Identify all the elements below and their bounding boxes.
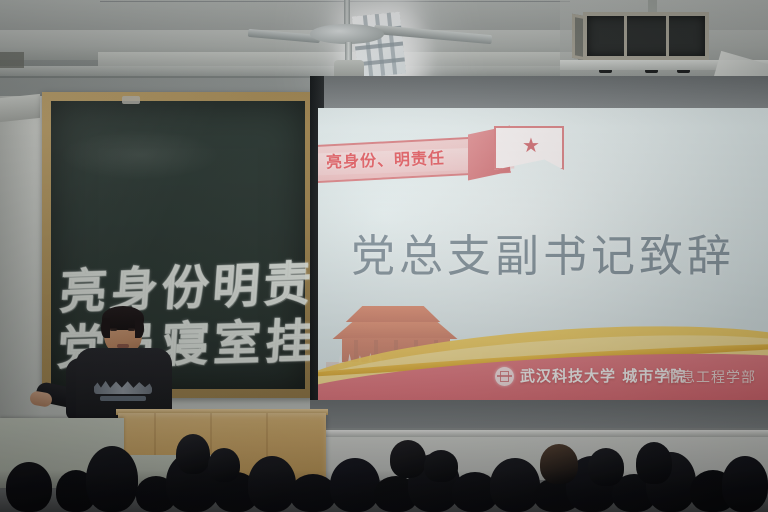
presenter-sweater-print-line bbox=[100, 396, 146, 401]
lecture-hall-photo: 亮身份明责任 党员寝室挂牌 ★ 亮身份、明责任 党总支副书记致辞 bbox=[0, 0, 768, 512]
audience-head bbox=[176, 434, 210, 474]
slide-title: 党总支副书记致辞 bbox=[318, 220, 768, 284]
ceiling-shadow-left bbox=[0, 52, 24, 68]
star-icon: ★ bbox=[520, 134, 542, 156]
projector-cage-bar bbox=[624, 12, 627, 60]
ceiling-projector-cage bbox=[583, 12, 709, 60]
presenter-eye bbox=[110, 328, 117, 331]
ceiling-hairline bbox=[100, 1, 570, 2]
projector-cage-bar bbox=[666, 12, 669, 60]
wall-plate bbox=[0, 94, 40, 122]
university-seal-icon bbox=[495, 367, 514, 386]
ceiling-fan-upper-hub bbox=[310, 24, 384, 44]
presenter-eye bbox=[128, 328, 135, 331]
presentation-slide: ★ 亮身份、明责任 党总支副书记致辞 bbox=[318, 108, 768, 400]
presenter-hair-side bbox=[135, 318, 144, 338]
blackboard-clip bbox=[122, 96, 140, 104]
slide-footer-department: 信息工程学部 bbox=[666, 369, 756, 388]
slide-footer-university: 武汉科技大学 城市学院 bbox=[520, 366, 686, 386]
presenter-hair-side bbox=[101, 318, 110, 338]
audience-shadow bbox=[0, 470, 768, 512]
projection-screen-top-band bbox=[310, 76, 768, 110]
